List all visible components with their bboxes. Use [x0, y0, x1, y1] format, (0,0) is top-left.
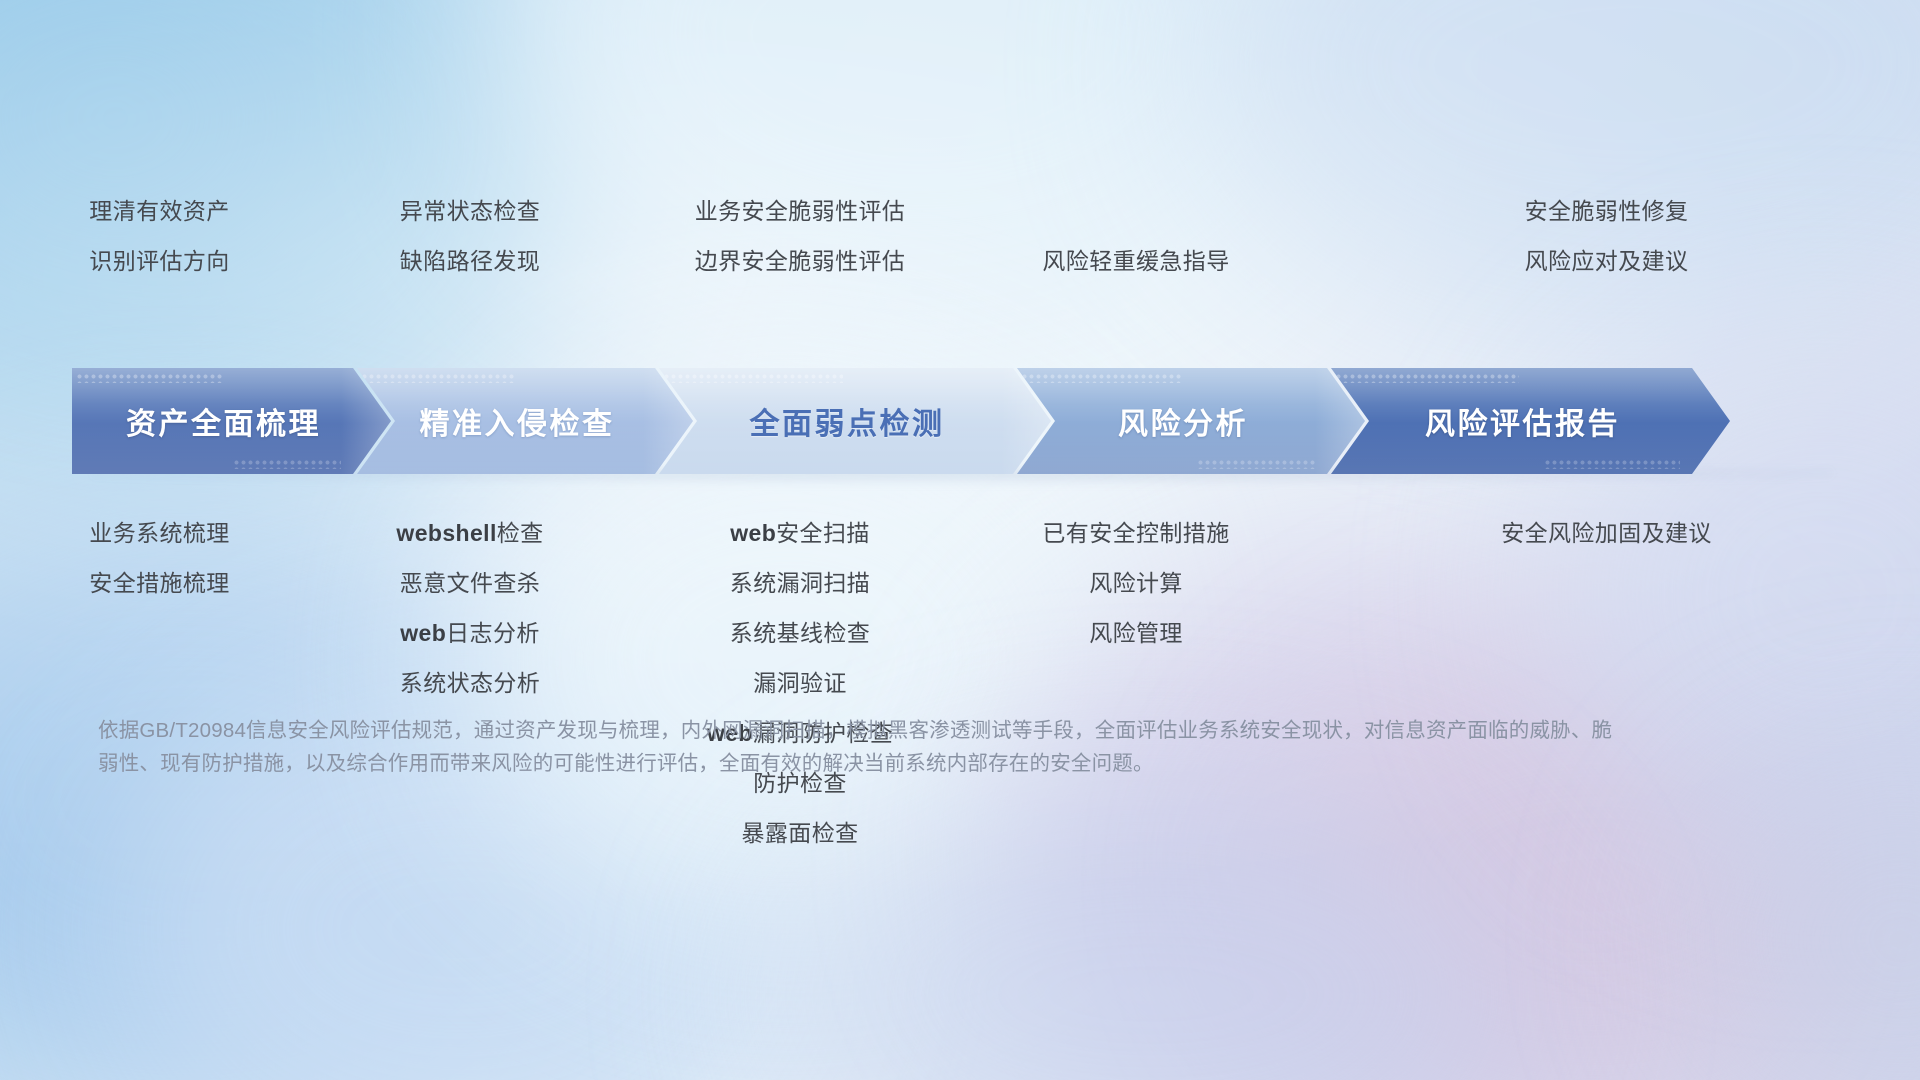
caption-line: 业务安全脆弱性评估	[695, 186, 906, 236]
flow-step-precise-intrusion-check[interactable]: 精准入侵检查	[357, 368, 693, 474]
process-flow-banner: 资产全面梳理 精准入侵检查 全面弱点检测 风险分析 风险评估报告	[72, 368, 1848, 474]
detail-item: 风险计算	[1089, 558, 1183, 608]
detail-text: 安全措施梳理	[89, 570, 229, 596]
detail-prefix: webshell	[396, 520, 496, 546]
detail-text: 漏洞验证	[753, 670, 847, 696]
detail-text: 业务系统梳理	[89, 520, 229, 546]
step-details-precise-intrusion-check: webshell检查 恶意文件查杀 web日志分析 系统状态分析	[319, 508, 621, 708]
detail-item: 系统漏洞扫描	[730, 558, 870, 608]
detail-item: 系统基线检查	[730, 608, 870, 658]
detail-item: 恶意文件查杀	[400, 558, 540, 608]
flow-step-full-weakness-detection[interactable]: 全面弱点检测	[659, 368, 1051, 474]
detail-prefix: web	[400, 620, 446, 646]
detail-text: 已有安全控制措施	[1042, 520, 1229, 546]
caption-line: 缺陷路径发现	[400, 236, 540, 286]
step-details-asset-inventory: 业务系统梳理 安全措施梳理	[0, 508, 319, 608]
flow-step-label: 资产全面梳理	[72, 399, 391, 443]
flow-step-risk-assessment-report[interactable]: 风险评估报告	[1331, 368, 1730, 474]
step-details-row: 业务系统梳理 安全措施梳理 webshell检查 恶意文件查杀 web日志分析 …	[0, 508, 1920, 858]
detail-text: 暴露面检查	[742, 820, 859, 846]
dot-texture-icon	[1197, 459, 1315, 469]
flow-step-label: 精准入侵检查	[357, 399, 693, 443]
step-inputs-asset-inventory: 理清有效资产 识别评估方向	[0, 186, 319, 282]
caption-line: 识别评估方向	[89, 236, 229, 286]
dot-texture-icon	[1021, 373, 1181, 383]
detail-text: 安全风险加固及建议	[1501, 520, 1712, 546]
dot-texture-icon	[361, 373, 516, 383]
dot-texture-icon	[1544, 459, 1680, 469]
detail-item: webshell检查	[396, 508, 543, 558]
detail-item: 业务系统梳理	[89, 508, 229, 558]
detail-item: 安全措施梳理	[89, 558, 229, 608]
flow-step-label: 风险评估报告	[1331, 399, 1730, 443]
dot-texture-icon	[663, 373, 843, 383]
detail-item: 已有安全控制措施	[1042, 508, 1229, 558]
caption-line: 理清有效资产	[89, 186, 229, 236]
step-inputs-risk-analysis: 风险轻重缓急指导	[979, 186, 1293, 282]
detail-prefix: web	[730, 520, 776, 546]
caption-line: 风险轻重缓急指导	[1042, 236, 1229, 286]
flow-step-risk-analysis[interactable]: 风险分析	[1017, 368, 1365, 474]
dot-texture-icon	[233, 459, 341, 469]
detail-item: 安全风险加固及建议	[1501, 508, 1712, 558]
detail-text: 日志分析	[446, 620, 540, 646]
slide-content: 理清有效资产 识别评估方向 异常状态检查 缺陷路径发现 业务安全脆弱性评估 边界…	[0, 0, 1920, 1080]
caption-line: 异常状态检查	[400, 186, 540, 236]
flow-step-label: 风险分析	[1017, 399, 1365, 443]
step-details-full-weakness-detection: web安全扫描 系统漏洞扫描 系统基线检查 漏洞验证 web漏洞防护检查 防护检…	[621, 508, 979, 858]
step-details-risk-analysis: 已有安全控制措施 风险计算 风险管理	[979, 508, 1293, 658]
detail-item: 系统状态分析	[400, 658, 540, 708]
detail-text: 检查	[497, 520, 544, 546]
footer-description: 依据GB/T20984信息安全风险评估规范，通过资产发现与梳理，内外网漏洞扫描，…	[98, 714, 1628, 780]
step-inputs-risk-assessment-report: 安全脆弱性修复 风险应对及建议	[1293, 186, 1920, 282]
detail-text: 系统状态分析	[400, 670, 540, 696]
detail-item: 风险管理	[1089, 608, 1183, 658]
detail-item: 暴露面检查	[742, 808, 859, 858]
caption-line: 风险应对及建议	[1525, 236, 1689, 286]
detail-text: 安全扫描	[776, 520, 870, 546]
dot-texture-icon	[76, 373, 223, 383]
detail-item: web日志分析	[400, 608, 540, 658]
dot-texture-icon	[1335, 373, 1519, 383]
detail-text: 风险管理	[1089, 620, 1183, 646]
step-inputs-precise-intrusion-check: 异常状态检查 缺陷路径发现	[319, 186, 621, 282]
detail-item: 漏洞验证	[753, 658, 847, 708]
step-inputs-row: 理清有效资产 识别评估方向 异常状态检查 缺陷路径发现 业务安全脆弱性评估 边界…	[0, 186, 1920, 282]
flow-step-asset-inventory[interactable]: 资产全面梳理	[72, 368, 391, 474]
step-details-risk-assessment-report: 安全风险加固及建议	[1293, 508, 1920, 558]
detail-text: 恶意文件查杀	[400, 570, 540, 596]
flow-step-label: 全面弱点检测	[659, 399, 1051, 443]
caption-line: 边界安全脆弱性评估	[695, 236, 906, 286]
step-inputs-full-weakness-detection: 业务安全脆弱性评估 边界安全脆弱性评估	[621, 186, 979, 282]
detail-text: 系统漏洞扫描	[730, 570, 870, 596]
detail-text: 风险计算	[1089, 570, 1183, 596]
detail-text: 系统基线检查	[730, 620, 870, 646]
caption-line: 安全脆弱性修复	[1525, 186, 1689, 236]
detail-item: web安全扫描	[730, 508, 870, 558]
